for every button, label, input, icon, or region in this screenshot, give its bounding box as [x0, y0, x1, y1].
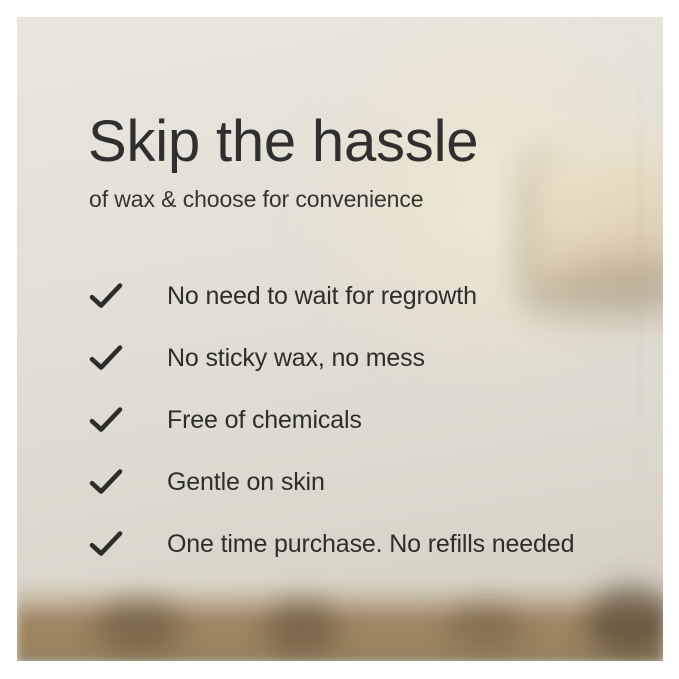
check-icon: [89, 467, 123, 497]
page-subtitle: of wax & choose for convenience: [89, 187, 423, 212]
list-item-label: No need to wait for regrowth: [167, 282, 477, 311]
overlay-text-content: Skip the hassle of wax & choose for conv…: [17, 17, 663, 661]
lifestyle-background-photo: Skip the hassle of wax & choose for conv…: [17, 17, 663, 661]
marketing-graphic-canvas: Skip the hassle of wax & choose for conv…: [0, 0, 679, 679]
list-item: Free of chemicals: [89, 389, 649, 451]
check-icon: [89, 281, 123, 311]
list-item: Gentle on skin: [89, 451, 649, 513]
list-item: No sticky wax, no mess: [89, 327, 649, 389]
list-item: No need to wait for regrowth: [89, 265, 649, 327]
check-icon: [89, 343, 123, 373]
check-icon: [89, 405, 123, 435]
list-item-label: No sticky wax, no mess: [167, 344, 425, 373]
check-icon: [89, 529, 123, 559]
list-item-label: Free of chemicals: [167, 406, 362, 435]
list-item-label: One time purchase. No refills needed: [167, 530, 574, 559]
list-item-label: Gentle on skin: [167, 468, 325, 497]
list-item: One time purchase. No refills needed: [89, 513, 649, 575]
page-title: Skip the hassle: [88, 113, 478, 171]
benefits-list: No need to wait for regrowth No sticky w…: [89, 265, 649, 575]
